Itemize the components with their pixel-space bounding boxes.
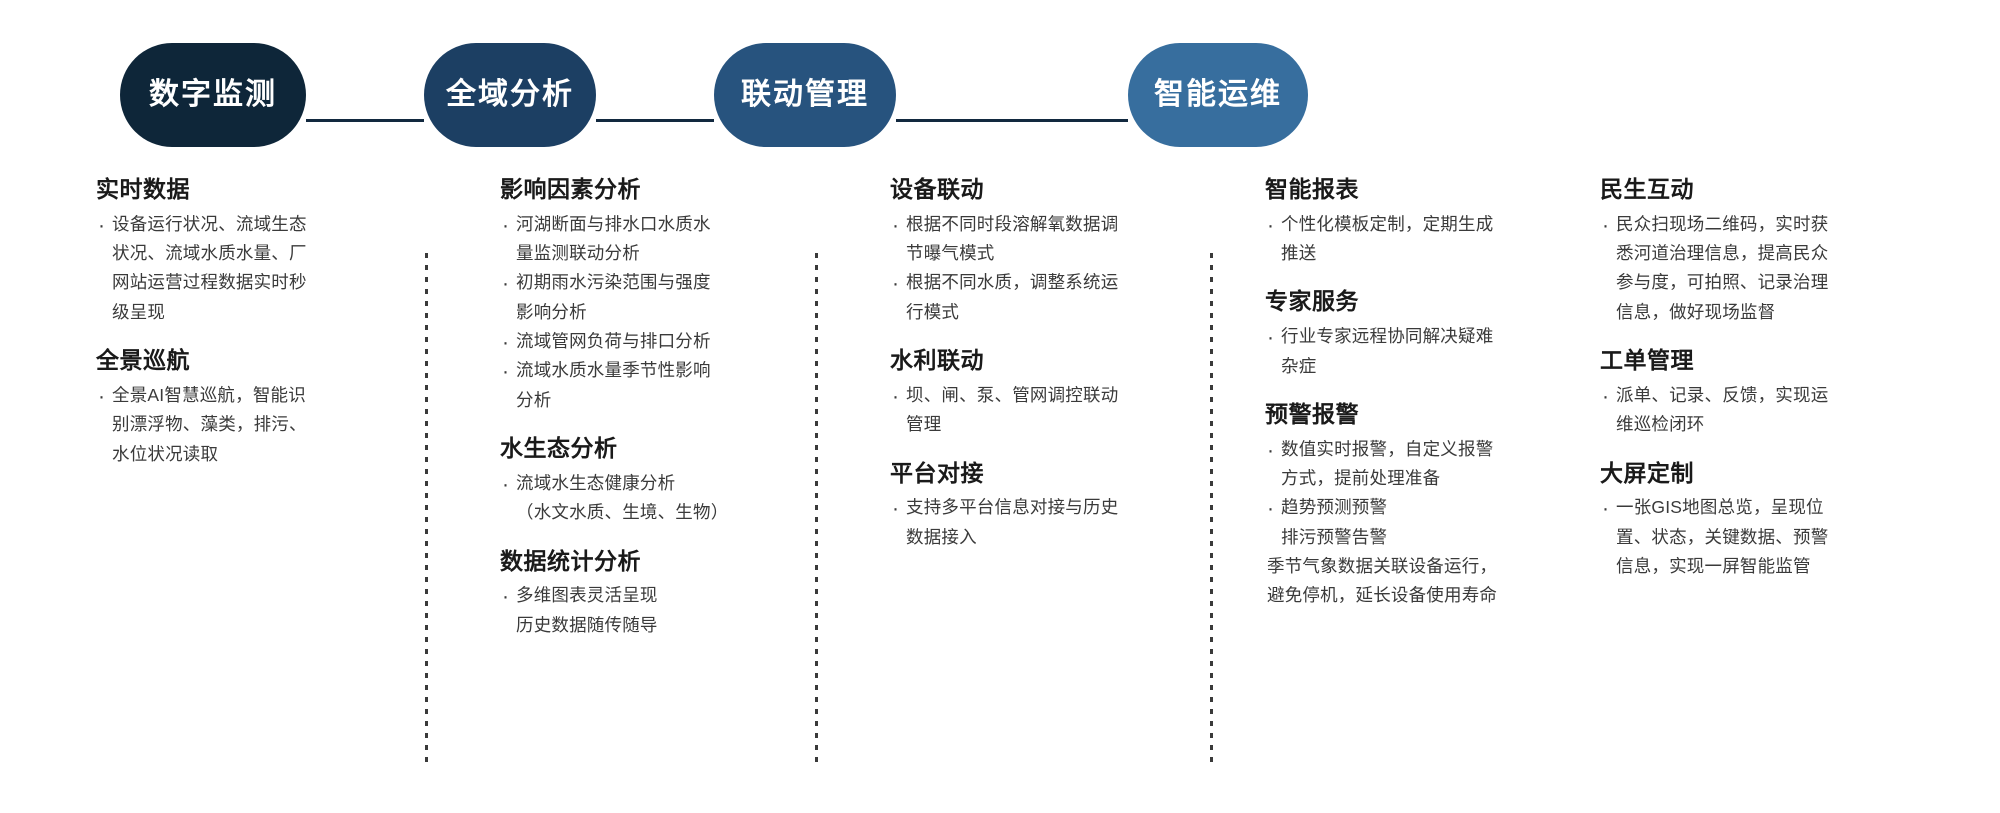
- feature-bullet-line: 影响分析: [500, 298, 732, 326]
- column-divider: [425, 253, 428, 763]
- feature-bullet-line: 河湖断面与排水口水质水: [500, 210, 732, 238]
- feature-group-title: 民生互动: [1600, 175, 1836, 204]
- feature-bullet-line: 水位状况读取: [96, 440, 318, 468]
- feature-bullet-line: 信息，做好现场监督: [1600, 298, 1836, 326]
- feature-bullet-line: 信息，实现一屏智能监管: [1600, 552, 1836, 580]
- feature-bullet-list: 数值实时报警，自定义报警方式，提前处理准备趋势预测预警排污预警告警季节气象数据关…: [1265, 435, 1505, 610]
- column-divider: [1210, 253, 1213, 763]
- feature-bullet-line: 节曝气模式: [890, 239, 1126, 267]
- column-realtime: 实时数据设备运行状况、流域生态状况、流域水质水量、厂网站运营过程数据实时秒级呈现…: [96, 175, 318, 469]
- feature-bullet-line: 悉河道治理信息，提高民众: [1600, 239, 1836, 267]
- detail-columns: 实时数据设备运行状况、流域生态状况、流域水质水量、厂网站运营过程数据实时秒级呈现…: [0, 175, 2000, 813]
- feature-bullet-list: 全景AI智慧巡航，智能识别漂浮物、藻类，排污、水位状况读取: [96, 381, 318, 468]
- feature-bullet-line: 级呈现: [96, 298, 318, 326]
- feature-bullet-line: 分析: [500, 386, 732, 414]
- feature-bullet-list: 流域水生态健康分析（水文水质、生境、生物）: [500, 469, 732, 527]
- column-divider: [815, 253, 818, 763]
- feature-bullet-line: 设备运行状况、流域生态: [96, 210, 318, 238]
- infographic-page: 数字监测全域分析联动管理智能运维 实时数据设备运行状况、流域生态状况、流域水质水…: [0, 0, 2000, 813]
- feature-bullet-line: 全景AI智慧巡航，智能识: [96, 381, 318, 409]
- feature-group-title: 设备联动: [890, 175, 1126, 204]
- flow-node-label: 数字监测: [149, 80, 277, 110]
- feature-group-title: 智能报表: [1265, 175, 1505, 204]
- flow-node-label: 联动管理: [741, 80, 869, 110]
- feature-bullet-list: 一张GIS地图总览，呈现位置、状态，关键数据、预警信息，实现一屏智能监管: [1600, 493, 1836, 580]
- feature-group-title: 数据统计分析: [500, 547, 732, 576]
- feature-bullet-list: 支持多平台信息对接与历史数据接入: [890, 493, 1126, 551]
- feature-bullet-line: 方式，提前处理准备: [1265, 464, 1505, 492]
- feature-group-title: 全景巡航: [96, 346, 318, 375]
- feature-bullet-line: 排污预警告警: [1265, 523, 1505, 551]
- flow-node-4[interactable]: 智能运维: [1128, 43, 1308, 147]
- feature-bullet-line: 网站运营过程数据实时秒: [96, 268, 318, 296]
- feature-group: 智能报表个性化模板定制，定期生成推送: [1265, 175, 1505, 267]
- feature-bullet-list: 设备运行状况、流域生态状况、流域水质水量、厂网站运营过程数据实时秒级呈现: [96, 210, 318, 326]
- feature-group: 平台对接支持多平台信息对接与历史数据接入: [890, 459, 1126, 551]
- feature-bullet-line: 根据不同水质，调整系统运: [890, 268, 1126, 296]
- feature-group: 民生互动民众扫现场二维码，实时获悉河道治理信息，提高民众参与度，可拍照、记录治理…: [1600, 175, 1836, 326]
- feature-group-title: 实时数据: [96, 175, 318, 204]
- flow-connector-2: [596, 119, 714, 122]
- feature-bullet-line: 行业专家远程协同解决疑难: [1265, 322, 1505, 350]
- feature-group-title: 水生态分析: [500, 434, 732, 463]
- flow-node-2[interactable]: 全域分析: [424, 43, 596, 147]
- column-ops: 智能报表个性化模板定制，定期生成推送专家服务行业专家远程协同解决疑难杂症预警报警…: [1265, 175, 1505, 611]
- feature-bullet-list: 多维图表灵活呈现历史数据随传随导: [500, 581, 732, 639]
- feature-bullet-line: 支持多平台信息对接与历史: [890, 493, 1126, 521]
- feature-bullet-line: 季节气象数据关联设备运行，: [1265, 552, 1505, 580]
- feature-bullet-line: 初期雨水污染范围与强度: [500, 268, 732, 296]
- feature-bullet-line: （水文水质、生境、生物）: [500, 498, 732, 526]
- feature-bullet-line: 维巡检闭环: [1600, 410, 1836, 438]
- feature-bullet-line: 坝、闸、泵、管网调控联动: [890, 381, 1126, 409]
- feature-bullet-line: 数值实时报警，自定义报警: [1265, 435, 1505, 463]
- feature-group-title: 专家服务: [1265, 287, 1505, 316]
- feature-bullet-line: 多维图表灵活呈现: [500, 581, 732, 609]
- feature-bullet-list: 派单、记录、反馈，实现运维巡检闭环: [1600, 381, 1836, 439]
- flow-node-label: 智能运维: [1154, 80, 1282, 110]
- feature-bullet-line: 管理: [890, 410, 1126, 438]
- feature-group: 预警报警数值实时报警，自定义报警方式，提前处理准备趋势预测预警排污预警告警季节气…: [1265, 400, 1505, 610]
- feature-group: 设备联动根据不同时段溶解氧数据调节曝气模式根据不同水质，调整系统运行模式: [890, 175, 1126, 326]
- feature-bullet-line: 个性化模板定制，定期生成: [1265, 210, 1505, 238]
- feature-group: 实时数据设备运行状况、流域生态状况、流域水质水量、厂网站运营过程数据实时秒级呈现: [96, 175, 318, 326]
- feature-bullet-list: 河湖断面与排水口水质水量监测联动分析初期雨水污染范围与强度影响分析流域管网负荷与…: [500, 210, 732, 414]
- feature-bullet-line: 置、状态，关键数据、预警: [1600, 523, 1836, 551]
- feature-bullet-line: 推送: [1265, 239, 1505, 267]
- feature-group: 专家服务行业专家远程协同解决疑难杂症: [1265, 287, 1505, 379]
- feature-bullet-list: 行业专家远程协同解决疑难杂症: [1265, 322, 1505, 380]
- flow-node-3[interactable]: 联动管理: [714, 43, 896, 147]
- feature-bullet-line: 量监测联动分析: [500, 239, 732, 267]
- feature-bullet-line: 避免停机，延长设备使用寿命: [1265, 581, 1505, 609]
- feature-bullet-line: 历史数据随传随导: [500, 611, 732, 639]
- feature-group-title: 平台对接: [890, 459, 1126, 488]
- flow-node-1[interactable]: 数字监测: [120, 43, 306, 147]
- feature-group-title: 影响因素分析: [500, 175, 732, 204]
- feature-group-title: 水利联动: [890, 346, 1126, 375]
- feature-group-title: 大屏定制: [1600, 459, 1836, 488]
- feature-bullet-list: 民众扫现场二维码，实时获悉河道治理信息，提高民众参与度，可拍照、记录治理信息，做…: [1600, 210, 1836, 326]
- feature-bullet-line: 趋势预测预警: [1265, 493, 1505, 521]
- feature-bullet-line: 参与度，可拍照、记录治理: [1600, 268, 1836, 296]
- feature-bullet-line: 根据不同时段溶解氧数据调: [890, 210, 1126, 238]
- feature-group: 水生态分析流域水生态健康分析（水文水质、生境、生物）: [500, 434, 732, 526]
- feature-group: 大屏定制一张GIS地图总览，呈现位置、状态，关键数据、预警信息，实现一屏智能监管: [1600, 459, 1836, 581]
- column-analysis: 影响因素分析河湖断面与排水口水质水量监测联动分析初期雨水污染范围与强度影响分析流…: [500, 175, 732, 640]
- feature-bullet-line: 杂症: [1265, 352, 1505, 380]
- feature-group: 数据统计分析多维图表灵活呈现历史数据随传随导: [500, 547, 732, 639]
- feature-bullet-line: 民众扫现场二维码，实时获: [1600, 210, 1836, 238]
- feature-bullet-line: 行模式: [890, 298, 1126, 326]
- feature-group: 影响因素分析河湖断面与排水口水质水量监测联动分析初期雨水污染范围与强度影响分析流…: [500, 175, 732, 414]
- feature-group-title: 工单管理: [1600, 346, 1836, 375]
- feature-bullet-line: 数据接入: [890, 523, 1126, 551]
- feature-bullet-line: 派单、记录、反馈，实现运: [1600, 381, 1836, 409]
- feature-bullet-line: 流域水质水量季节性影响: [500, 356, 732, 384]
- flow-connector-1: [306, 119, 424, 122]
- flow-connector-3: [896, 119, 1128, 122]
- feature-group: 工单管理派单、记录、反馈，实现运维巡检闭环: [1600, 346, 1836, 438]
- feature-bullet-line: 流域管网负荷与排口分析: [500, 327, 732, 355]
- feature-bullet-list: 坝、闸、泵、管网调控联动管理: [890, 381, 1126, 439]
- column-public: 民生互动民众扫现场二维码，实时获悉河道治理信息，提高民众参与度，可拍照、记录治理…: [1600, 175, 1836, 581]
- feature-group-title: 预警报警: [1265, 400, 1505, 429]
- flow-node-label: 全域分析: [446, 80, 574, 110]
- column-linkage: 设备联动根据不同时段溶解氧数据调节曝气模式根据不同水质，调整系统运行模式水利联动…: [890, 175, 1126, 552]
- feature-group: 水利联动坝、闸、泵、管网调控联动管理: [890, 346, 1126, 438]
- feature-group: 全景巡航全景AI智慧巡航，智能识别漂浮物、藻类，排污、水位状况读取: [96, 346, 318, 468]
- process-flow: 数字监测全域分析联动管理智能运维: [0, 0, 2000, 180]
- feature-bullet-line: 流域水生态健康分析: [500, 469, 732, 497]
- feature-bullet-line: 别漂浮物、藻类，排污、: [96, 410, 318, 438]
- feature-bullet-line: 状况、流域水质水量、厂: [96, 239, 318, 267]
- feature-bullet-list: 根据不同时段溶解氧数据调节曝气模式根据不同水质，调整系统运行模式: [890, 210, 1126, 326]
- feature-bullet-list: 个性化模板定制，定期生成推送: [1265, 210, 1505, 268]
- feature-bullet-line: 一张GIS地图总览，呈现位: [1600, 493, 1836, 521]
